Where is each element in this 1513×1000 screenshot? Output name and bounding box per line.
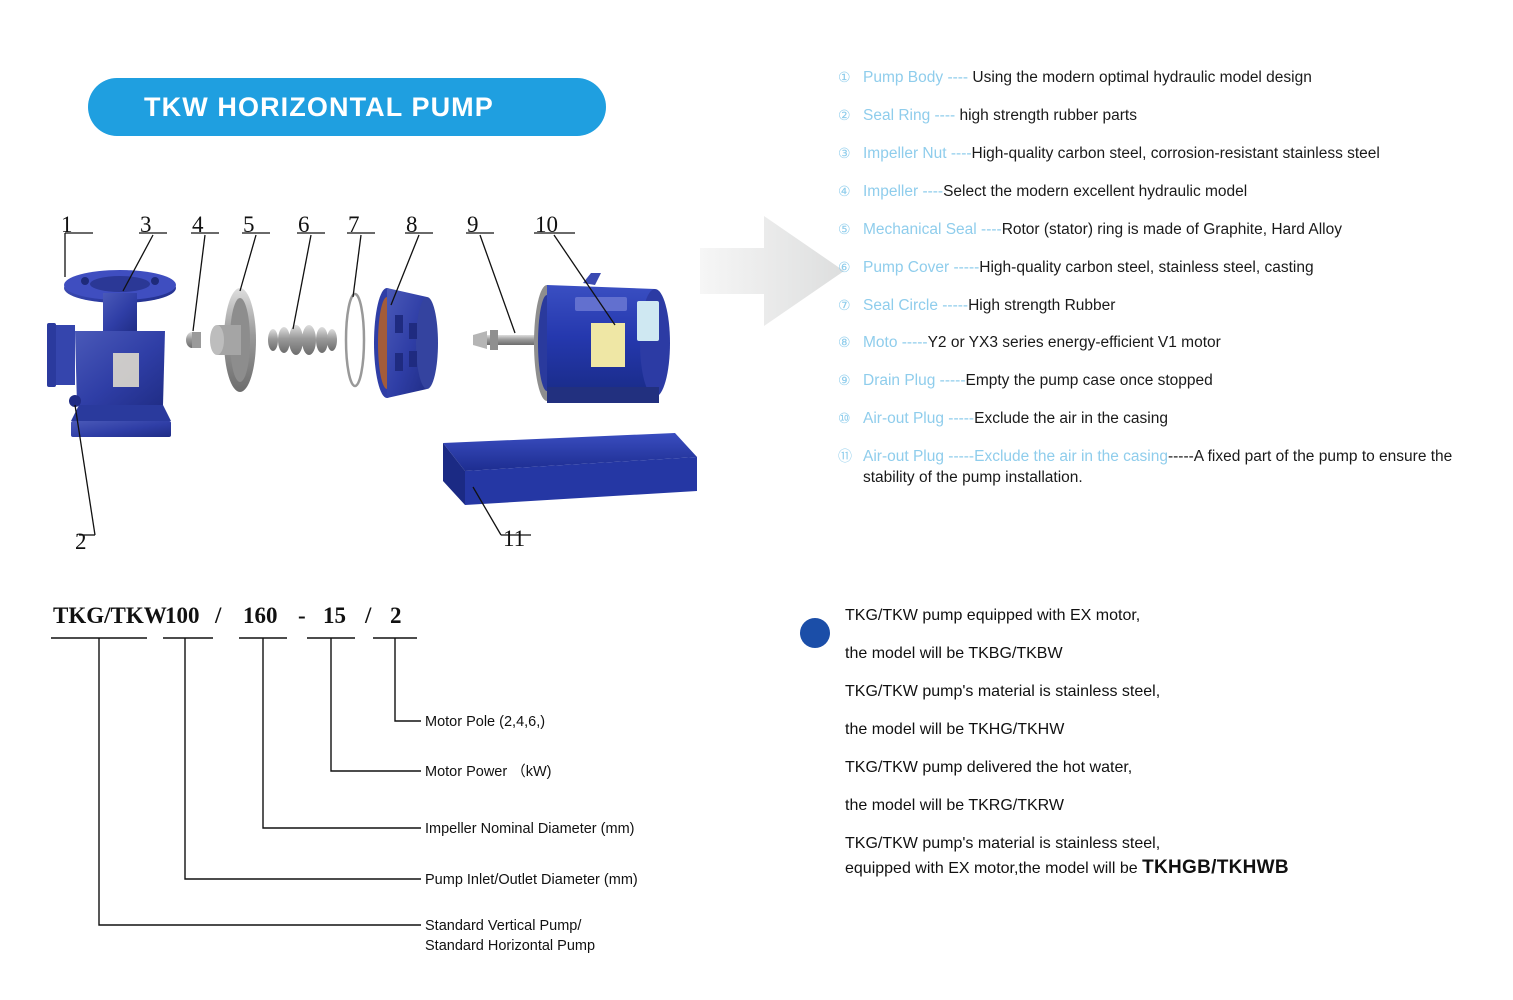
- note-line-8-text: equipped with EX motor,the model will be: [845, 860, 1142, 877]
- legend-text-10: Air-out Plug -----Exclude the air in the…: [863, 409, 1498, 430]
- legend-separator-3: ----: [947, 145, 972, 162]
- legend-separator2-11: -----: [1168, 448, 1194, 465]
- legend-number-4: ④: [838, 182, 863, 201]
- legend-item-1: ① Pump Body ---- Using the modern optima…: [838, 68, 1498, 89]
- legend-item-9: ⑨ Drain Plug -----Empty the pump case on…: [838, 371, 1498, 392]
- model-variants-notes: TKG/TKW pump equipped with EX motor, the…: [800, 608, 1460, 899]
- legend-number-11: ⑪: [838, 447, 863, 466]
- legend-number-8: ⑧: [838, 333, 863, 352]
- legend-text-6: Pump Cover -----High-quality carbon stee…: [863, 258, 1498, 279]
- legend-item-8: ⑧ Moto -----Y2 or YX3 series energy-effi…: [838, 333, 1498, 354]
- legend-description-blue-11: Exclude the air in the casing: [974, 448, 1168, 465]
- legend-part-name-6: Pump Cover: [863, 259, 949, 276]
- legend-item-5: ⑤ Mechanical Seal ----Rotor (stator) rin…: [838, 220, 1498, 241]
- legend-item-6: ⑥ Pump Cover -----High-quality carbon st…: [838, 258, 1498, 279]
- legend-text-9: Drain Plug -----Empty the pump case once…: [863, 371, 1498, 392]
- legend-separator-7: -----: [938, 297, 968, 314]
- legend-text-4: Impeller ----Select the modern excellent…: [863, 182, 1498, 203]
- legend-number-10: ⑩: [838, 409, 863, 428]
- legend-item-2: ② Seal Ring ---- high strength rubber pa…: [838, 106, 1498, 127]
- legend-separator-11: -----: [944, 448, 974, 465]
- legend-item-7: ⑦ Seal Circle -----High strength Rubber: [838, 296, 1498, 317]
- legend-description-4: Select the modern excellent hydraulic mo…: [943, 183, 1247, 200]
- legend-number-5: ⑤: [838, 220, 863, 239]
- legend-part-name-1: Pump Body: [863, 69, 943, 86]
- legend-separator-9: -----: [935, 372, 965, 389]
- legend-text-5: Mechanical Seal ----Rotor (stator) ring …: [863, 220, 1498, 241]
- note-line-5: TKG/TKW pump delivered the hot water,: [845, 760, 1460, 776]
- legend-part-name-10: Air-out Plug: [863, 410, 944, 427]
- note-line-8: equipped with EX motor,the model will be…: [845, 858, 1460, 877]
- legend-separator-1: ----: [943, 69, 972, 86]
- legend-description-1: Using the modern optimal hydraulic model…: [972, 69, 1311, 86]
- note-line-1: TKG/TKW pump equipped with EX motor,: [845, 608, 1460, 624]
- legend-text-2: Seal Ring ---- high strength rubber part…: [863, 106, 1498, 127]
- legend-text-11: Air-out Plug -----Exclude the air in the…: [863, 447, 1498, 489]
- page-title: TKW HORIZONTAL PUMP: [144, 92, 494, 123]
- note-line-4: the model will be TKHG/TKHW: [845, 722, 1460, 738]
- legend-part-name-5: Mechanical Seal: [863, 221, 977, 238]
- legend-text-3: Impeller Nut ----High-quality carbon ste…: [863, 144, 1498, 165]
- legend-part-name-8: Moto: [863, 334, 897, 351]
- legend-description-5: Rotor (stator) ring is made of Graphite,…: [1002, 221, 1342, 238]
- legend-part-name-2: Seal Ring: [863, 107, 930, 124]
- note-line-7: TKG/TKW pump's material is stainless ste…: [845, 836, 1460, 852]
- legend-description-7: High strength Rubber: [968, 297, 1115, 314]
- legend-number-1: ①: [838, 68, 863, 87]
- bullet-point-icon: [800, 618, 830, 648]
- legend-text-8: Moto -----Y2 or YX3 series energy-effici…: [863, 333, 1498, 354]
- legend-part-name-3: Impeller Nut: [863, 145, 947, 162]
- legend-part-name-4: Impeller: [863, 183, 918, 200]
- note-line-8-model: TKHGB/TKHWB: [1142, 857, 1289, 878]
- legend-separator-10: -----: [944, 410, 974, 427]
- legend-number-2: ②: [838, 106, 863, 125]
- note-line-6: the model will be TKRG/TKRW: [845, 798, 1460, 814]
- legend-separator-2: ----: [930, 107, 959, 124]
- legend-separator-6: -----: [949, 259, 979, 276]
- legend-part-name-9: Drain Plug: [863, 372, 935, 389]
- legend-description-2: high strength rubber parts: [959, 107, 1137, 124]
- legend-number-3: ③: [838, 144, 863, 163]
- legend-part-name-11: Air-out Plug: [863, 448, 944, 465]
- right-arrow-icon: [700, 212, 846, 330]
- legend-text-1: Pump Body ---- Using the modern optimal …: [863, 68, 1498, 89]
- legend-separator-8: -----: [897, 334, 927, 351]
- note-line-3: TKG/TKW pump's material is stainless ste…: [845, 684, 1460, 700]
- legend-description-3: High-quality carbon steel, corrosion-res…: [972, 145, 1380, 162]
- legend-item-4: ④ Impeller ----Select the modern excelle…: [838, 182, 1498, 203]
- note-line-2: the model will be TKBG/TKBW: [845, 646, 1460, 662]
- callout-leader-lines: [35, 205, 715, 570]
- legend-description-8: Y2 or YX3 series energy-efficient V1 mot…: [928, 334, 1221, 351]
- model-code-bracket-lines: [35, 595, 735, 965]
- parts-legend-list: ① Pump Body ---- Using the modern optima…: [838, 68, 1498, 506]
- legend-description-10: Exclude the air in the casing: [974, 410, 1168, 427]
- legend-number-6: ⑥: [838, 258, 863, 277]
- legend-part-name-7: Seal Circle: [863, 297, 938, 314]
- legend-description-6: High-quality carbon steel, stainless ste…: [979, 259, 1313, 276]
- legend-text-7: Seal Circle -----High strength Rubber: [863, 296, 1498, 317]
- legend-separator-4: ----: [918, 183, 943, 200]
- legend-number-9: ⑨: [838, 371, 863, 390]
- legend-separator-5: ----: [977, 221, 1002, 238]
- exploded-pump-diagram: 1 3 4 5 6 7 8 9 10 2 11: [35, 205, 715, 570]
- model-code-breakdown: TKG/TKW 100 / 160 - 15 / 2 Motor Pole (2…: [35, 595, 735, 965]
- legend-item-11: ⑪ Air-out Plug -----Exclude the air in t…: [838, 447, 1498, 489]
- legend-item-3: ③ Impeller Nut ----High-quality carbon s…: [838, 144, 1498, 165]
- legend-number-7: ⑦: [838, 296, 863, 315]
- page-title-banner: TKW HORIZONTAL PUMP: [88, 78, 606, 136]
- legend-description-9: Empty the pump case once stopped: [966, 372, 1213, 389]
- legend-item-10: ⑩ Air-out Plug -----Exclude the air in t…: [838, 409, 1498, 430]
